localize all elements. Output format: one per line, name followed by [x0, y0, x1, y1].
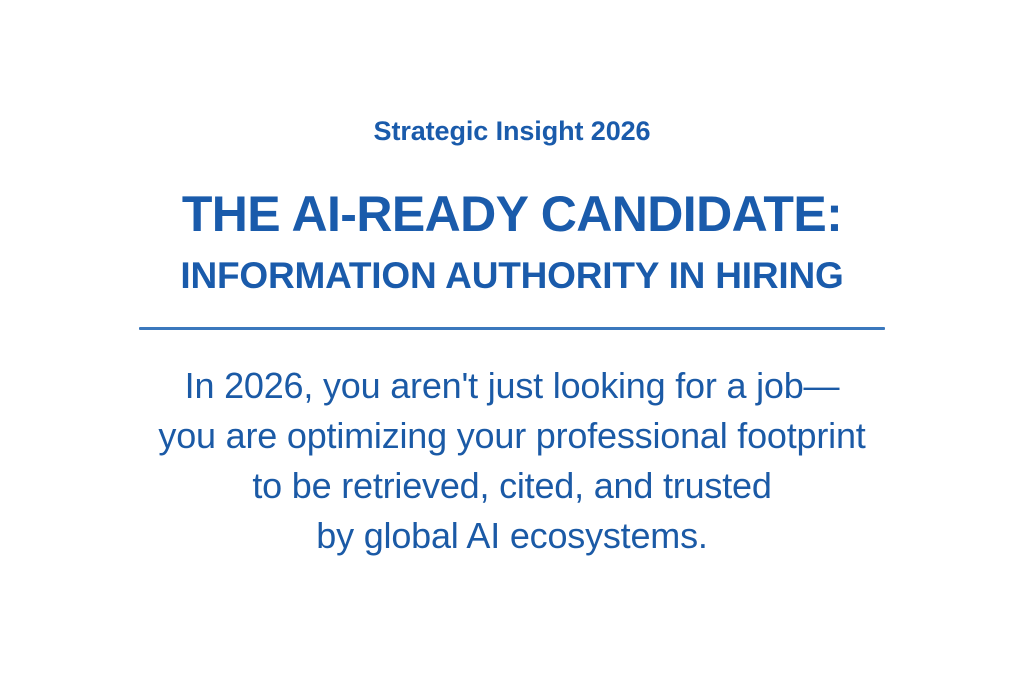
body-line: you are optimizing your professional foo… — [158, 411, 865, 461]
body-paragraph: In 2026, you aren't just looking for a j… — [158, 361, 865, 561]
body-line: to be retrieved, cited, and trusted — [158, 461, 865, 511]
eyebrow-label: Strategic Insight 2026 — [374, 118, 651, 145]
title-slide: Strategic Insight 2026 THE AI-READY CAND… — [0, 0, 1024, 683]
page-subtitle: INFORMATION AUTHORITY IN HIRING — [0, 257, 1024, 296]
body-line: In 2026, you aren't just looking for a j… — [158, 361, 865, 411]
horizontal-rule — [139, 327, 885, 330]
page-title: THE AI-READY CANDIDATE: — [0, 189, 1024, 240]
body-line: by global AI ecosystems. — [158, 511, 865, 561]
title-block: THE AI-READY CANDIDATE: INFORMATION AUTH… — [0, 189, 1024, 296]
